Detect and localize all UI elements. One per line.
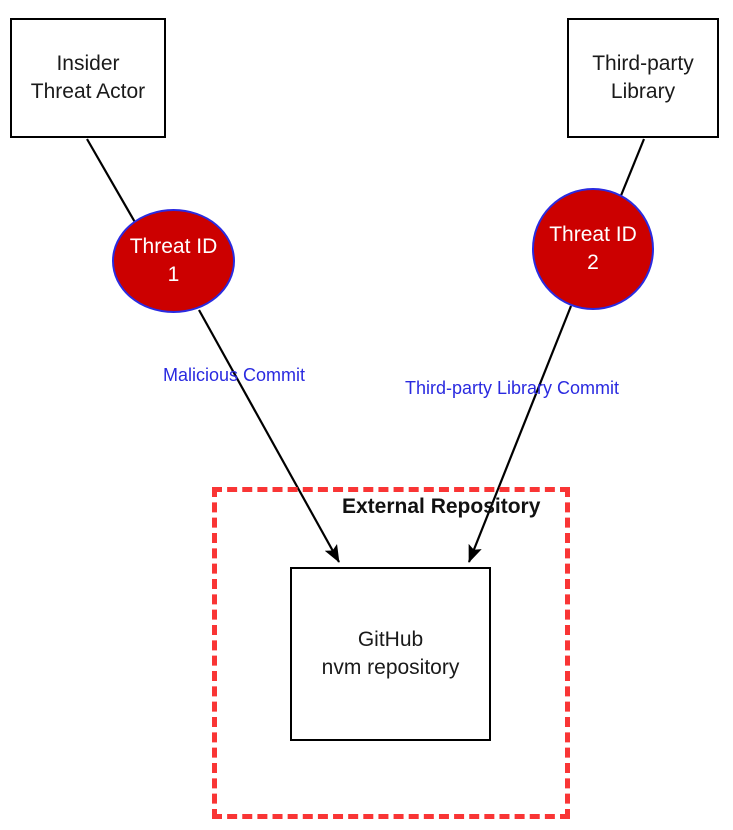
edge-label-malicious-commit: Malicious Commit <box>163 365 305 386</box>
edge-library-to-threat2 <box>620 139 644 198</box>
node-threat-id-2[interactable]: Threat ID 2 <box>532 188 654 310</box>
node-third-party-library[interactable]: Third-party Library <box>567 18 719 138</box>
node-github-nvm-repository[interactable]: GitHub nvm repository <box>290 567 491 741</box>
edge-insider-to-threat1 <box>87 139 136 224</box>
edge-label-third-party-library-commit: Third-party Library Commit <box>405 378 619 399</box>
external-repository-label: External Repository <box>342 495 540 519</box>
diagram-canvas: External Repository Insider Threat Actor… <box>0 0 733 830</box>
node-insider-threat-actor[interactable]: Insider Threat Actor <box>10 18 166 138</box>
node-threat-id-1[interactable]: Threat ID 1 <box>112 209 235 313</box>
